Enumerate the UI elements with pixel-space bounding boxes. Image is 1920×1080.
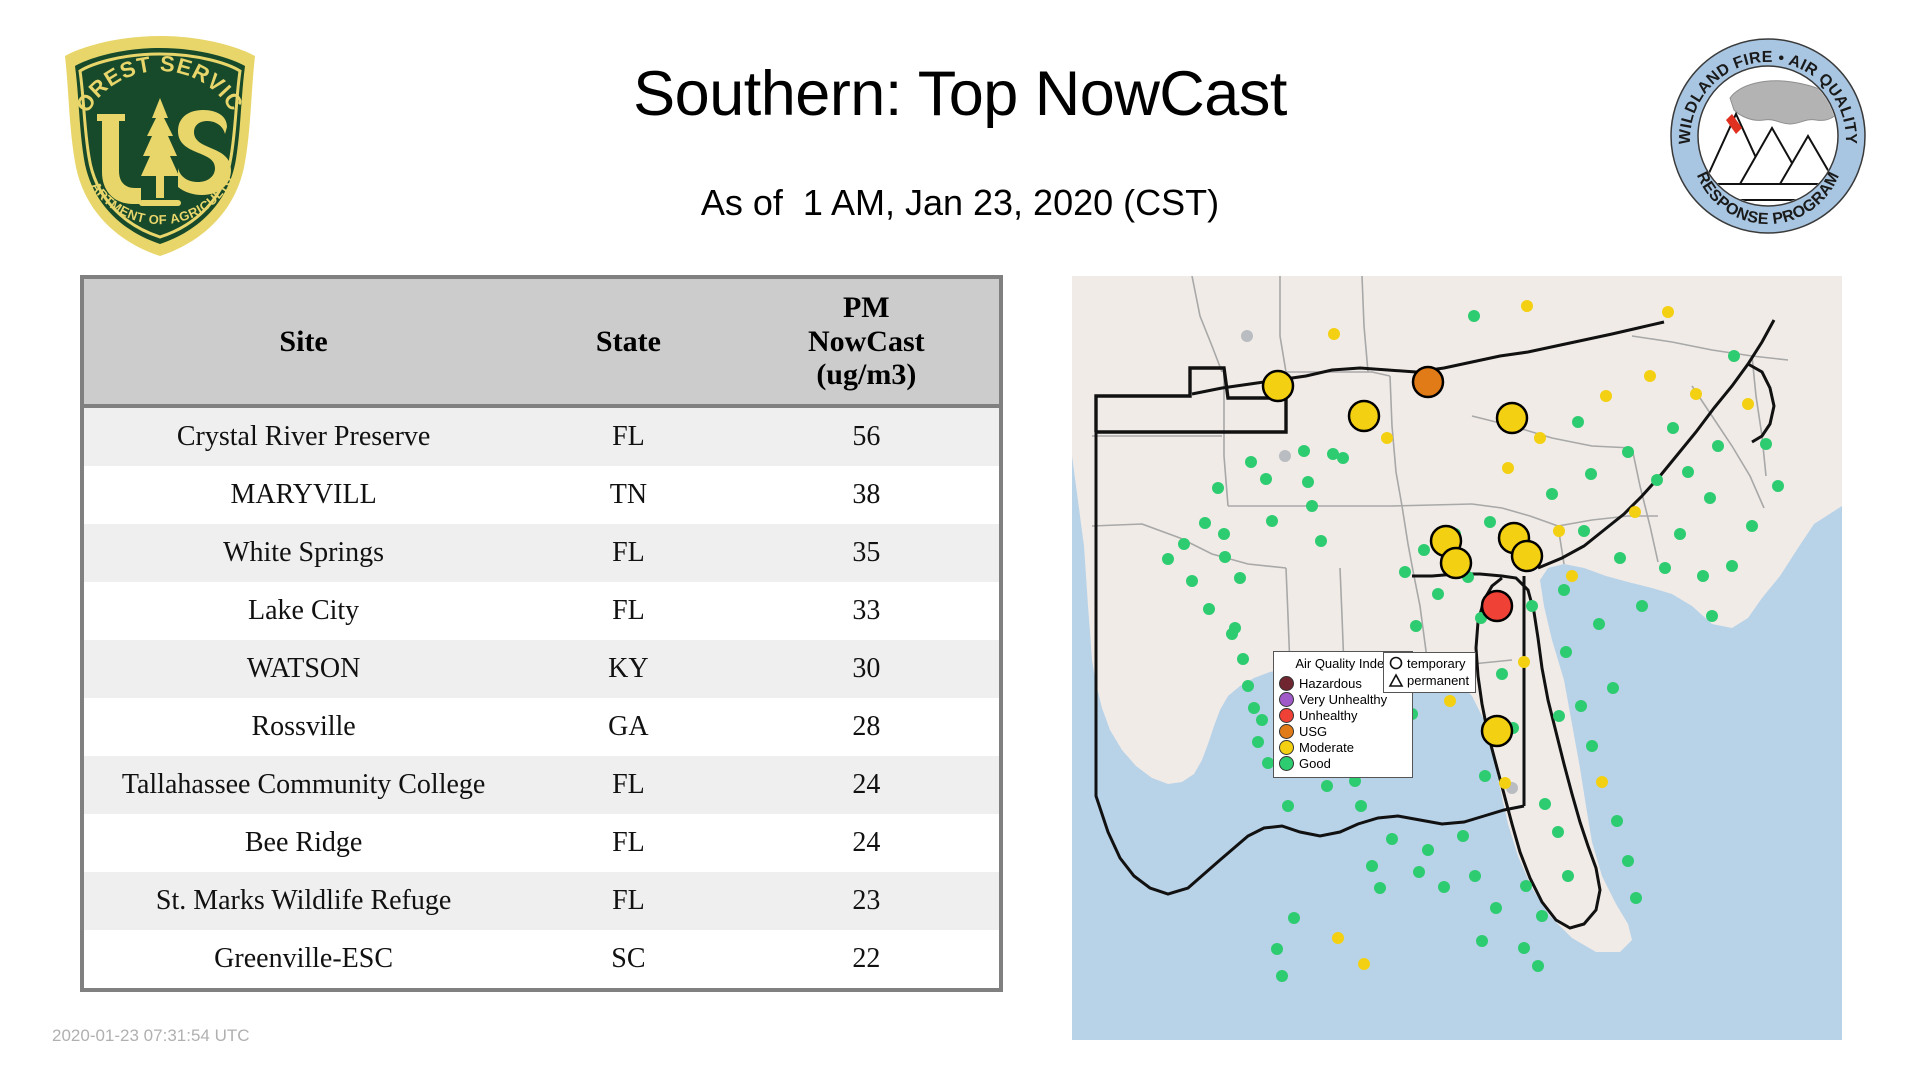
- map-marker[interactable]: [1746, 520, 1758, 532]
- map-marker[interactable]: [1410, 620, 1422, 632]
- map-marker[interactable]: [1288, 912, 1300, 924]
- cell-state: FL: [523, 872, 733, 930]
- column-header-pm-nowcast: PM NowCast (ug/m3): [734, 279, 999, 406]
- cell-value: 35: [734, 524, 999, 582]
- map-marker[interactable]: [1337, 452, 1349, 464]
- map-marker[interactable]: [1697, 570, 1709, 582]
- map-marker[interactable]: [1622, 855, 1634, 867]
- map-marker[interactable]: [1271, 943, 1283, 955]
- map-marker[interactable]: [1302, 476, 1314, 488]
- map-marker[interactable]: [1499, 777, 1511, 789]
- map-marker[interactable]: [1242, 680, 1254, 692]
- map-marker[interactable]: [1162, 553, 1174, 565]
- map-marker[interactable]: [1229, 622, 1241, 634]
- map-marker[interactable]: [1553, 525, 1565, 537]
- map-marker[interactable]: [1558, 584, 1570, 596]
- map-marker-highlighted[interactable]: [1512, 541, 1542, 571]
- cell-value: 56: [734, 406, 999, 466]
- legend-row-good: Good: [1279, 755, 1407, 771]
- map-marker[interactable]: [1552, 826, 1564, 838]
- map-marker[interactable]: [1496, 668, 1508, 680]
- map-marker[interactable]: [1234, 572, 1246, 584]
- map-marker[interactable]: [1332, 932, 1344, 944]
- cell-site: MARYVILL: [84, 466, 523, 524]
- map-marker[interactable]: [1585, 468, 1597, 480]
- footer-timestamp: 2020-01-23 07:31:54 UTC: [52, 1026, 250, 1046]
- cell-site: Tallahassee Community College: [84, 756, 523, 814]
- wildland-fire-air-quality-program-logo-icon: WILDLAND FIRE • AIR QUALITY RESPONSE PRO…: [1668, 36, 1868, 236]
- map-marker[interactable]: [1178, 538, 1190, 550]
- column-header-pm-line3: (ug/m3): [734, 358, 999, 392]
- top-nowcast-table: Site State PM NowCast (ug/m3) Crystal Ri…: [80, 275, 1003, 992]
- cell-site: Greenville-ESC: [84, 930, 523, 988]
- map-marker-highlighted[interactable]: [1349, 401, 1379, 431]
- map-marker[interactable]: [1726, 560, 1738, 572]
- table-row: Greenville-ESCSC22: [84, 930, 999, 988]
- cell-site: WATSON: [84, 640, 523, 698]
- table-row: Lake CityFL33: [84, 582, 999, 640]
- legend-swatch-icon: [1279, 756, 1294, 771]
- map-marker[interactable]: [1706, 610, 1718, 622]
- legend-row-unhealthy: Unhealthy: [1279, 707, 1407, 723]
- map-marker[interactable]: [1690, 388, 1702, 400]
- cell-value: 24: [734, 756, 999, 814]
- map-marker[interactable]: [1742, 398, 1754, 410]
- map-marker[interactable]: [1476, 935, 1488, 947]
- map-marker[interactable]: [1659, 562, 1671, 574]
- map-marker[interactable]: [1572, 416, 1584, 428]
- map-marker[interactable]: [1256, 714, 1268, 726]
- table-row: WATSONKY30: [84, 640, 999, 698]
- cell-state: KY: [523, 640, 733, 698]
- circle-monitor-icon: [1388, 656, 1404, 671]
- map-marker[interactable]: [1600, 390, 1612, 402]
- cell-site: Crystal River Preserve: [84, 406, 523, 466]
- map-marker[interactable]: [1622, 446, 1634, 458]
- map-marker[interactable]: [1418, 544, 1430, 556]
- map-marker[interactable]: [1438, 881, 1450, 893]
- cell-value: 24: [734, 814, 999, 872]
- air-quality-monitor-map[interactable]: Air Quality Index HazardousVery Unhealth…: [1072, 276, 1842, 1040]
- map-marker[interactable]: [1321, 780, 1333, 792]
- map-marker[interactable]: [1518, 942, 1530, 954]
- map-marker[interactable]: [1328, 328, 1340, 340]
- map-marker[interactable]: [1520, 880, 1532, 892]
- legend-label: Unhealthy: [1299, 708, 1358, 723]
- map-marker[interactable]: [1596, 776, 1608, 788]
- map-marker[interactable]: [1651, 474, 1663, 486]
- cell-state: FL: [523, 524, 733, 582]
- map-marker[interactable]: [1219, 551, 1231, 563]
- map-marker[interactable]: [1212, 482, 1224, 494]
- map-marker[interactable]: [1355, 800, 1367, 812]
- map-marker[interactable]: [1521, 300, 1533, 312]
- legend-row-permanent: permanent: [1388, 672, 1469, 689]
- column-header-pm-line1: PM: [734, 291, 999, 325]
- legend-label: Very Unhealthy: [1299, 692, 1387, 707]
- map-marker[interactable]: [1186, 575, 1198, 587]
- legend-label-permanent: permanent: [1407, 673, 1469, 688]
- cell-state: TN: [523, 466, 733, 524]
- map-marker[interactable]: [1306, 500, 1318, 512]
- page-header: FOREST SERVICE DEPARTMENT OF AGRICULTURE…: [0, 0, 1920, 260]
- map-marker[interactable]: [1386, 833, 1398, 845]
- map-marker[interactable]: [1629, 506, 1641, 518]
- map-marker[interactable]: [1532, 960, 1544, 972]
- table-row: RossvilleGA28: [84, 698, 999, 756]
- table-row: Tallahassee Community CollegeFL24: [84, 756, 999, 814]
- page-title: Southern: Top NowCast: [0, 58, 1920, 130]
- map-marker[interactable]: [1728, 350, 1740, 362]
- map-marker[interactable]: [1490, 902, 1502, 914]
- map-marker[interactable]: [1562, 870, 1574, 882]
- page-subtitle: As of 1 AM, Jan 23, 2020 (CST): [0, 182, 1920, 224]
- map-marker[interactable]: [1366, 860, 1378, 872]
- map-marker[interactable]: [1203, 603, 1215, 615]
- map-marker[interactable]: [1374, 882, 1386, 894]
- cell-value: 28: [734, 698, 999, 756]
- map-marker-highlighted[interactable]: [1482, 591, 1512, 621]
- map-marker[interactable]: [1546, 488, 1558, 500]
- map-marker-highlighted[interactable]: [1413, 367, 1443, 397]
- map-marker[interactable]: [1578, 525, 1590, 537]
- map-marker-highlighted[interactable]: [1441, 548, 1471, 578]
- map-marker[interactable]: [1381, 432, 1393, 444]
- legend-label: Moderate: [1299, 740, 1354, 755]
- legend-label: USG: [1299, 724, 1327, 739]
- map-marker[interactable]: [1276, 970, 1288, 982]
- map-marker[interactable]: [1682, 466, 1694, 478]
- cell-value: 22: [734, 930, 999, 988]
- map-marker[interactable]: [1772, 480, 1784, 492]
- map-marker[interactable]: [1282, 800, 1294, 812]
- map-marker[interactable]: [1674, 528, 1686, 540]
- legend-swatch-icon: [1279, 676, 1294, 691]
- cell-state: FL: [523, 756, 733, 814]
- map-marker[interactable]: [1534, 432, 1546, 444]
- map-marker[interactable]: [1636, 600, 1648, 612]
- map-marker[interactable]: [1413, 866, 1425, 878]
- map-marker[interactable]: [1760, 438, 1772, 450]
- map-marker[interactable]: [1667, 422, 1679, 434]
- map-marker[interactable]: [1611, 815, 1623, 827]
- map-marker[interactable]: [1468, 310, 1480, 322]
- cell-state: SC: [523, 930, 733, 988]
- legend-row-temporary: temporary: [1388, 655, 1469, 672]
- table-header-row: Site State PM NowCast (ug/m3): [84, 279, 999, 406]
- column-header-pm-line2: NowCast: [734, 325, 999, 359]
- map-marker[interactable]: [1432, 588, 1444, 600]
- map-marker[interactable]: [1260, 473, 1272, 485]
- column-header-state: State: [523, 279, 733, 406]
- cell-site: White Springs: [84, 524, 523, 582]
- legend-label: Good: [1299, 756, 1331, 771]
- map-marker[interactable]: [1630, 892, 1642, 904]
- map-marker[interactable]: [1518, 656, 1530, 668]
- map-marker[interactable]: [1536, 910, 1548, 922]
- map-marker[interactable]: [1245, 456, 1257, 468]
- legend-row-usg: USG: [1279, 723, 1407, 739]
- legend-swatch-icon: [1279, 740, 1294, 755]
- legend-swatch-icon: [1279, 724, 1294, 739]
- map-marker[interactable]: [1241, 330, 1253, 342]
- map-marker[interactable]: [1502, 462, 1514, 474]
- map-marker[interactable]: [1712, 440, 1724, 452]
- map-marker[interactable]: [1526, 600, 1538, 612]
- map-marker[interactable]: [1575, 700, 1587, 712]
- legend-row-moderate: Moderate: [1279, 739, 1407, 755]
- cell-value: 33: [734, 582, 999, 640]
- cell-site: Lake City: [84, 582, 523, 640]
- cell-value: 38: [734, 466, 999, 524]
- map-marker-highlighted[interactable]: [1263, 371, 1293, 401]
- table-row: MARYVILLTN38: [84, 466, 999, 524]
- map-marker[interactable]: [1560, 646, 1572, 658]
- map-marker[interactable]: [1566, 570, 1578, 582]
- map-marker[interactable]: [1704, 492, 1716, 504]
- map-marker[interactable]: [1457, 830, 1469, 842]
- map-marker-highlighted[interactable]: [1497, 403, 1527, 433]
- map-marker-highlighted[interactable]: [1482, 716, 1512, 746]
- cell-state: FL: [523, 406, 733, 466]
- map-marker[interactable]: [1553, 710, 1565, 722]
- map-marker[interactable]: [1614, 552, 1626, 564]
- map-marker[interactable]: [1298, 445, 1310, 457]
- map-marker[interactable]: [1422, 844, 1434, 856]
- map-marker[interactable]: [1399, 566, 1411, 578]
- map-marker[interactable]: [1444, 695, 1456, 707]
- map-marker[interactable]: [1248, 702, 1260, 714]
- table-row: St. Marks Wildlife RefugeFL23: [84, 872, 999, 930]
- triangle-monitor-icon: [1388, 673, 1404, 688]
- map-marker[interactable]: [1199, 517, 1211, 529]
- table-row: White SpringsFL35: [84, 524, 999, 582]
- column-header-site: Site: [84, 279, 523, 406]
- table-row: Crystal River PreserveFL56: [84, 406, 999, 466]
- legend-swatch-icon: [1279, 708, 1294, 723]
- cell-site: Rossville: [84, 698, 523, 756]
- map-marker[interactable]: [1539, 798, 1551, 810]
- legend-row-very-unhealthy: Very Unhealthy: [1279, 691, 1407, 707]
- map-marker[interactable]: [1484, 516, 1496, 528]
- map-marker[interactable]: [1315, 535, 1327, 547]
- cell-state: GA: [523, 698, 733, 756]
- cell-value: 30: [734, 640, 999, 698]
- legend-swatch-icon: [1279, 692, 1294, 707]
- table-row: Bee RidgeFL24: [84, 814, 999, 872]
- cell-state: FL: [523, 814, 733, 872]
- map-marker[interactable]: [1266, 515, 1278, 527]
- legend-label-temporary: temporary: [1407, 656, 1466, 671]
- map-marker[interactable]: [1662, 306, 1674, 318]
- cell-site: St. Marks Wildlife Refuge: [84, 872, 523, 930]
- map-marker[interactable]: [1218, 528, 1230, 540]
- map-marker[interactable]: [1593, 618, 1605, 630]
- cell-value: 23: [734, 872, 999, 930]
- map-marker[interactable]: [1237, 653, 1249, 665]
- map-marker[interactable]: [1644, 370, 1656, 382]
- monitor-type-legend: temporary permanent: [1383, 652, 1476, 693]
- cell-state: FL: [523, 582, 733, 640]
- map-marker[interactable]: [1358, 958, 1370, 970]
- map-marker[interactable]: [1586, 740, 1598, 752]
- cell-site: Bee Ridge: [84, 814, 523, 872]
- map-marker[interactable]: [1607, 682, 1619, 694]
- legend-label: Hazardous: [1299, 676, 1362, 691]
- map-marker[interactable]: [1252, 736, 1264, 748]
- map-marker[interactable]: [1279, 450, 1291, 462]
- map-marker[interactable]: [1469, 870, 1481, 882]
- map-marker[interactable]: [1479, 770, 1491, 782]
